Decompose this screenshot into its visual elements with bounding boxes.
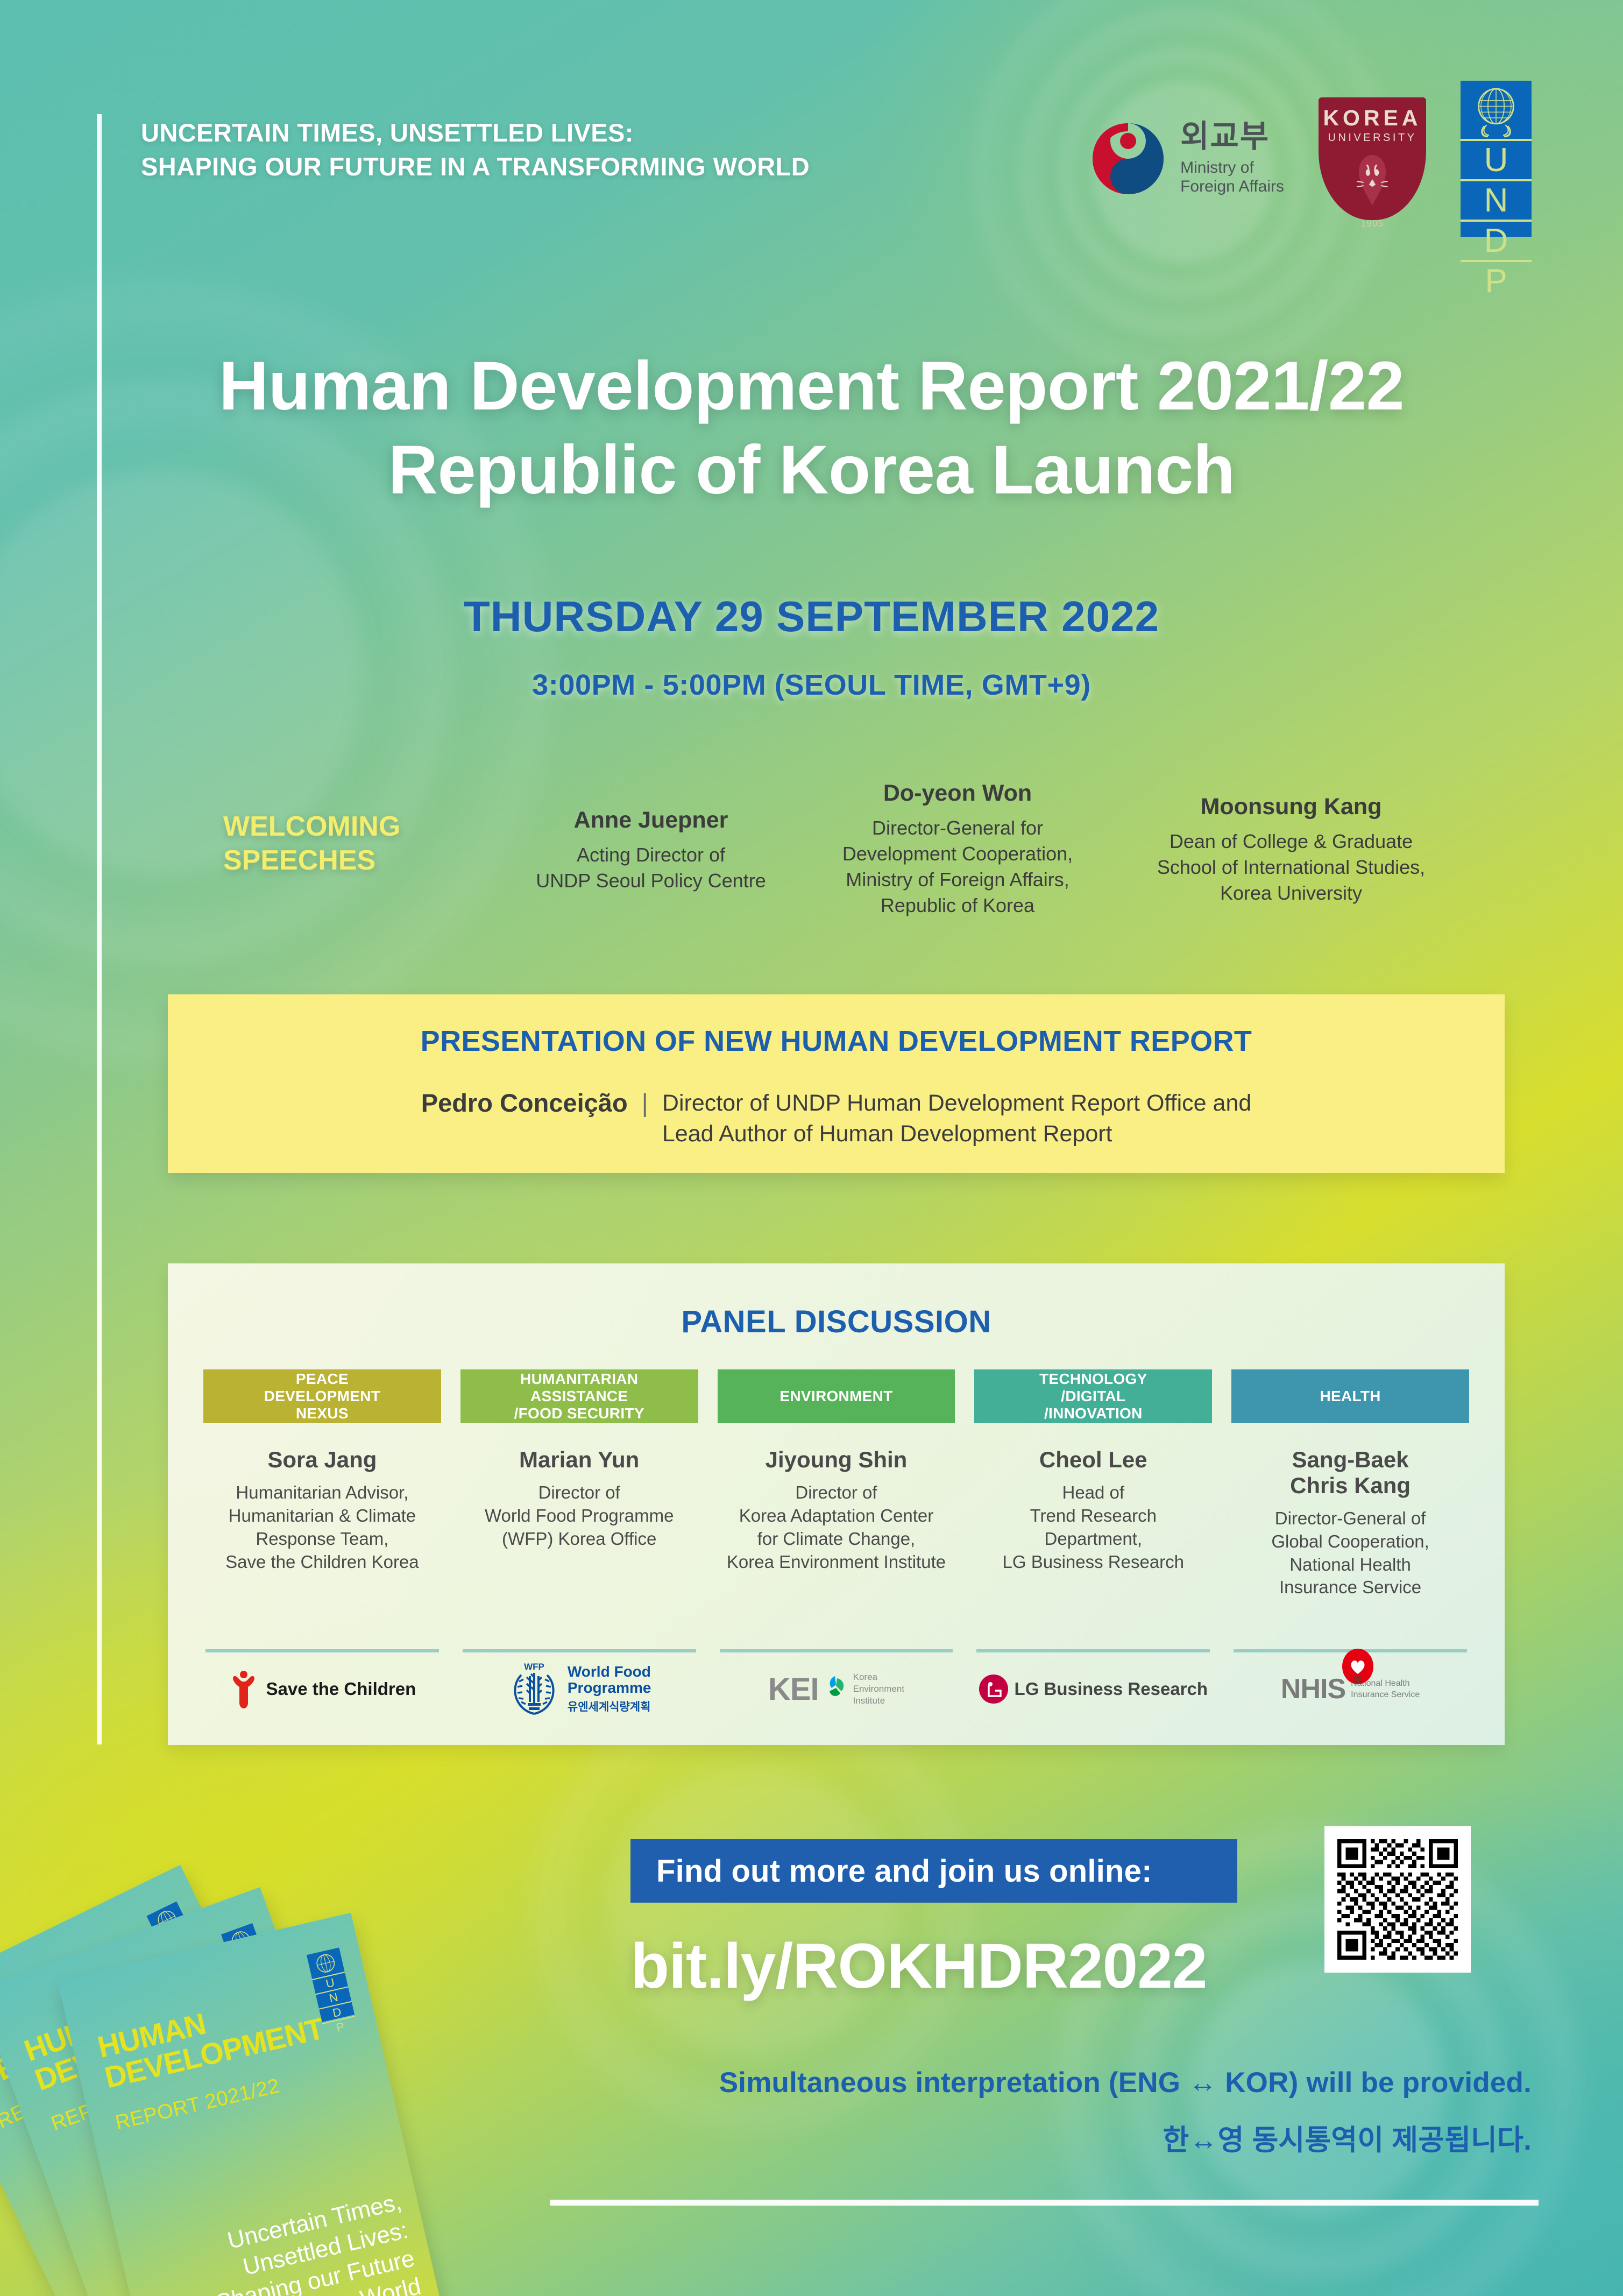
panel-column-health: HEALTH Sang-BaekChris Kang Director-Gene… xyxy=(1222,1369,1479,1734)
title-line-2: Republic of Korea Launch xyxy=(0,428,1623,512)
poster-root: UNCERTAIN TIMES, UNSETTLED LIVES: SHAPIN… xyxy=(0,0,1623,2296)
nhis-heart-icon xyxy=(1341,1648,1374,1689)
panelist-name: Cheol Lee xyxy=(974,1447,1212,1473)
kicker-line-2: SHAPING OUR FUTURE IN A TRANSFORMING WOR… xyxy=(141,150,980,184)
find-out-more-label: Find out more and join us online: xyxy=(656,1853,1152,1889)
panel-divider xyxy=(720,1649,953,1652)
undp-letter-u: U xyxy=(1461,139,1532,179)
save-the-children-icon xyxy=(229,1669,259,1709)
wfp-line-2: Programme xyxy=(568,1680,651,1696)
un-emblem-icon xyxy=(1461,81,1532,139)
report-cover-stack: U N HUMAN DEVELOPMENT REPORT 2021/22 U N… xyxy=(0,1846,559,2296)
panel-badge: TECHNOLOGY/DIGITAL/INNOVATION xyxy=(974,1369,1212,1423)
svg-text:WFP: WFP xyxy=(524,1662,544,1672)
cover-tagline: Uncertain Times,Unsettled Lives:Shaping … xyxy=(150,2188,424,2296)
mofa-en-line-2: Foreign Affairs xyxy=(1180,178,1284,196)
welcoming-label-line-2: SPEECHES xyxy=(223,844,460,878)
welcoming-speaker-1: Anne Juepner Acting Director ofUNDP Seou… xyxy=(511,807,791,894)
find-out-more-button[interactable]: Find out more and join us online: xyxy=(630,1839,1237,1903)
kicker-line-1: UNCERTAIN TIMES, UNSETTLED LIVES: xyxy=(141,116,980,150)
taegeuk-icon xyxy=(1088,118,1168,199)
panelist-role: Director ofKorea Adaptation Centerfor Cl… xyxy=(718,1481,955,1574)
kei-sub-line-2: Environment xyxy=(853,1683,904,1695)
panelist-role: Humanitarian Advisor,Humanitarian & Clim… xyxy=(203,1481,441,1574)
undp-letter-d: D xyxy=(1461,220,1532,260)
mofa-wordmark: 외교부 Ministry of Foreign Affairs xyxy=(1180,121,1284,196)
horizontal-rule-bottom xyxy=(550,2200,1539,2206)
presentation-speaker-name: Pedro Conceição xyxy=(421,1088,628,1118)
panel-discussion-heading: PANEL DISCUSSION xyxy=(168,1263,1505,1340)
panel-badge: HUMANITARIANASSISTANCE/FOOD SECURITY xyxy=(460,1369,698,1423)
speaker-name: Do-yeon Won xyxy=(796,780,1119,807)
mofa-english-label: Ministry of Foreign Affairs xyxy=(1180,159,1284,196)
event-url-link[interactable]: bit.ly/ROKHDR2022 xyxy=(630,1930,1330,2003)
panelist-name: Sang-BaekChris Kang xyxy=(1231,1447,1469,1499)
panelist-role: Director-General ofGlobal Cooperation,Na… xyxy=(1231,1507,1469,1600)
nhis-sub-line-2: Insurance Service xyxy=(1351,1690,1420,1701)
ku-korea-label: KOREA xyxy=(1323,105,1421,131)
undp-letters: U N D P xyxy=(1461,139,1532,300)
presentation-speaker-role: Director of UNDP Human Development Repor… xyxy=(662,1088,1251,1149)
org-logo-kei: KEI Korea Environment Institute xyxy=(708,1659,965,1719)
panel-discussion-section: PANEL DISCUSSION PEACEDEVELOPMENTNEXUS S… xyxy=(168,1263,1505,1745)
presentation-separator: | xyxy=(642,1088,648,1118)
kei-sub-line-1: Korea xyxy=(853,1671,904,1683)
undp-letter-n: N xyxy=(1461,179,1532,220)
org-logo-wfp: WFP World Food xyxy=(451,1659,708,1719)
title-line-1: Human Development Report 2021/22 xyxy=(0,344,1623,428)
panelist-name: Marian Yun xyxy=(460,1447,698,1473)
partner-logo-row: 외교부 Ministry of Foreign Affairs KOREA UN… xyxy=(1088,81,1532,237)
qr-code[interactable] xyxy=(1324,1826,1471,1973)
speaker-name: Moonsung Kang xyxy=(1124,794,1458,820)
welcoming-speaker-3: Moonsung Kang Dean of College & Graduate… xyxy=(1124,794,1458,906)
panel-column-environment: ENVIRONMENT Jiyoung Shin Director ofKore… xyxy=(708,1369,965,1734)
panelist-role: Director ofWorld Food Programme(WFP) Kor… xyxy=(460,1481,698,1551)
undp-logo: U N D P xyxy=(1461,81,1532,237)
kei-swoosh-icon xyxy=(825,1675,847,1703)
panel-badge: HEALTH xyxy=(1231,1369,1469,1423)
welcoming-speaker-2: Do-yeon Won Director-General forDevelopm… xyxy=(796,780,1119,919)
speaker-name: Anne Juepner xyxy=(511,807,791,833)
event-time: 3:00PM - 5:00PM (SEOUL TIME, GMT+9) xyxy=(0,668,1623,702)
wfp-wordmark: World Food Programme 유엔세계식량계획 xyxy=(568,1664,651,1714)
ku-founding-year: 1905 xyxy=(1361,218,1384,229)
nhis-wordmark: NHIS xyxy=(1281,1673,1345,1705)
lg-face-icon xyxy=(979,1675,1008,1704)
wfp-line-3-korean: 유엔세계식량계획 xyxy=(568,1698,651,1714)
speaker-role: Acting Director ofUNDP Seoul Policy Cent… xyxy=(511,842,791,894)
wfp-line-1: World Food xyxy=(568,1664,651,1680)
panel-column-humanitarian-assistance-food-security: HUMANITARIANASSISTANCE/FOOD SECURITY Mar… xyxy=(451,1369,708,1734)
page-title: Human Development Report 2021/22 Republi… xyxy=(0,344,1623,512)
panel-columns: PEACEDEVELOPMENTNEXUS Sora Jang Humanita… xyxy=(194,1369,1479,1734)
save-the-children-wordmark: Save the Children xyxy=(266,1679,416,1699)
presentation-speaker-row: Pedro Conceição | Director of UNDP Human… xyxy=(421,1088,1252,1149)
panel-divider xyxy=(205,1649,439,1652)
org-logo-nhis: NHIS National Health Insurance Service xyxy=(1222,1659,1479,1719)
presentation-panel: PRESENTATION OF NEW HUMAN DEVELOPMENT RE… xyxy=(168,994,1505,1173)
presentation-heading: PRESENTATION OF NEW HUMAN DEVELOPMENT RE… xyxy=(421,1025,1252,1058)
panel-badge: PEACEDEVELOPMENTNEXUS xyxy=(203,1369,441,1423)
org-logo-save-the-children: Save the Children xyxy=(194,1659,451,1719)
event-date: THURSDAY 29 SEPTEMBER 2022 xyxy=(0,592,1623,641)
kei-subtitle: Korea Environment Institute xyxy=(853,1671,904,1706)
speaker-role: Dean of College & GraduateSchool of Inte… xyxy=(1124,829,1458,906)
panelist-name: Sora Jang xyxy=(203,1447,441,1473)
mofa-en-line-1: Ministry of xyxy=(1180,159,1284,178)
tiger-icon xyxy=(1344,151,1400,216)
speaker-role: Director-General forDevelopment Cooperat… xyxy=(796,815,1119,919)
panel-divider xyxy=(976,1649,1210,1652)
panel-divider xyxy=(463,1649,696,1652)
wfp-wheat-icon: WFP xyxy=(507,1661,561,1717)
welcoming-label-line-1: WELCOMING xyxy=(223,810,460,844)
ku-shield-icon: KOREA UNIVERSITY 1905 xyxy=(1319,97,1426,220)
panel-column-peace-development-nexus: PEACEDEVELOPMENTNEXUS Sora Jang Humanita… xyxy=(194,1369,451,1734)
kei-sub-line-3: Institute xyxy=(853,1695,904,1707)
mofa-korean-label: 외교부 xyxy=(1180,121,1284,152)
ku-university-label: UNIVERSITY xyxy=(1328,132,1416,144)
undp-letter-p: P xyxy=(1461,260,1532,300)
korea-university-logo: KOREA UNIVERSITY 1905 xyxy=(1319,97,1426,220)
welcoming-speeches-label: WELCOMING SPEECHES xyxy=(223,810,460,878)
ministry-of-foreign-affairs-logo: 외교부 Ministry of Foreign Affairs xyxy=(1088,118,1284,199)
panel-badge: ENVIRONMENT xyxy=(718,1369,955,1423)
kicker-tagline: UNCERTAIN TIMES, UNSETTLED LIVES: SHAPIN… xyxy=(141,116,980,184)
panelist-name: Jiyoung Shin xyxy=(718,1447,955,1473)
panel-column-technology-digital-innovation: TECHNOLOGY/DIGITAL/INNOVATION Cheol Lee … xyxy=(965,1369,1222,1734)
org-logo-lg-business-research: LG Business Research xyxy=(965,1659,1222,1719)
panelist-role: Head ofTrend ResearchDepartment,LG Busin… xyxy=(974,1481,1212,1574)
qr-code-svg xyxy=(1337,1839,1458,1960)
lg-wordmark: LG Business Research xyxy=(1015,1679,1208,1699)
kei-wordmark: KEI xyxy=(768,1671,819,1707)
cover-heading: HUMAN DEVELOPMENT xyxy=(95,1982,327,2094)
